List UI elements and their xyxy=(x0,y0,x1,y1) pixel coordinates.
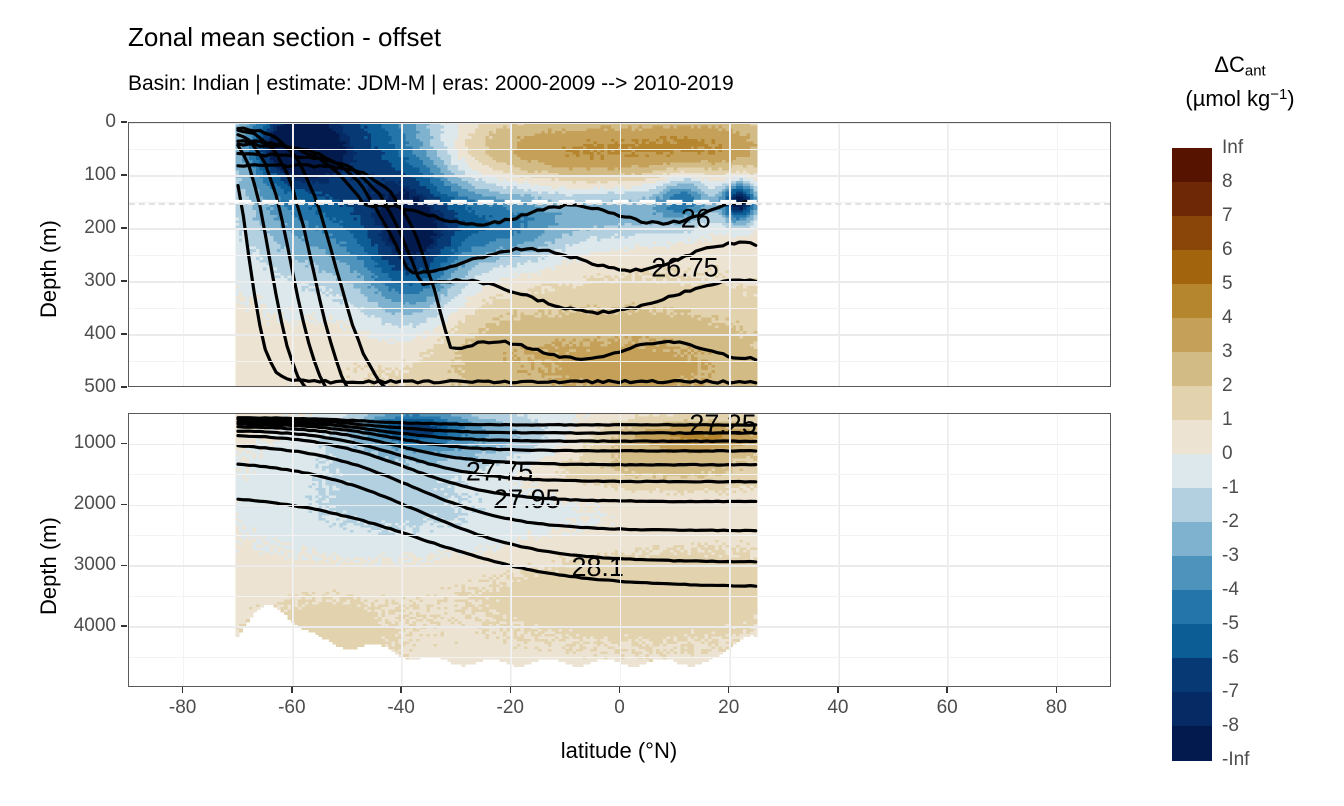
colorbar-band xyxy=(1172,488,1212,523)
colorbar-tick-label: 0 xyxy=(1222,443,1233,465)
colorbar-tick-label: -3 xyxy=(1222,545,1239,567)
colorbar-tick-label: 5 xyxy=(1222,273,1233,295)
y-axis-tick-upper xyxy=(121,333,127,334)
gridline-vertical-minor xyxy=(183,414,184,686)
x-axis-tick-label: -60 xyxy=(278,697,305,719)
colorbar[interactable] xyxy=(1172,148,1212,760)
colorbar-band xyxy=(1172,624,1212,659)
x-axis-tick xyxy=(182,687,183,693)
gridline-horizontal xyxy=(129,626,1110,628)
legend-title-line2: (µmol kg−1) xyxy=(1185,86,1294,112)
colorbar-band xyxy=(1172,556,1212,591)
y-axis-tick-lower xyxy=(121,565,127,566)
page-title: Zonal mean section - offset xyxy=(128,22,441,53)
colorbar-tick-label: 3 xyxy=(1222,341,1233,363)
contour-label: 27.75 xyxy=(466,456,533,486)
legend-delta: Δ xyxy=(1214,52,1229,77)
colorbar-band xyxy=(1172,420,1212,455)
legend-title-line1: ΔCant xyxy=(1214,52,1265,79)
colorbar-band xyxy=(1172,692,1212,727)
legend-subscript: ant xyxy=(1245,62,1266,79)
gridline-horizontal-minor xyxy=(129,308,1110,309)
legend-unit-open: (µmol kg xyxy=(1185,86,1270,111)
y-axis-tick-label-lower: 1000 xyxy=(74,432,116,454)
gridline-horizontal xyxy=(129,505,1110,507)
gridline-horizontal-minor xyxy=(129,149,1110,150)
colorbar-band xyxy=(1172,216,1212,251)
colorbar-tick-label: -4 xyxy=(1222,579,1239,601)
colorbar-tick-label: 8 xyxy=(1222,171,1233,193)
x-axis-tick xyxy=(946,687,947,693)
colorbar-tick-label: -6 xyxy=(1222,647,1239,669)
y-axis-tick-lower xyxy=(121,443,127,444)
x-axis-tick-label: 60 xyxy=(937,697,958,719)
x-axis-tick xyxy=(619,687,620,693)
x-axis-tick xyxy=(837,687,838,693)
colorbar-band xyxy=(1172,590,1212,625)
colorbar-tick-label: 4 xyxy=(1222,307,1233,329)
y-axis-tick-label-upper: 0 xyxy=(105,111,116,133)
x-axis-tick-label: 0 xyxy=(614,697,625,719)
colorbar-tick-label: -5 xyxy=(1222,613,1239,635)
y-axis-tick-label-upper: 200 xyxy=(84,217,116,239)
gridline-horizontal xyxy=(129,122,1110,124)
x-axis-tick-label: 20 xyxy=(718,697,739,719)
y-axis-tick-label-upper: 500 xyxy=(84,376,116,398)
y-axis-tick-label-upper: 100 xyxy=(84,164,116,186)
gridline-horizontal xyxy=(129,565,1110,567)
colorbar-band xyxy=(1172,284,1212,319)
colorbar-band xyxy=(1172,250,1212,285)
x-axis-tick-label: 80 xyxy=(1046,697,1067,719)
x-axis-tick-label: -80 xyxy=(169,697,196,719)
y-axis-tick-label-lower: 3000 xyxy=(74,554,116,576)
gridline-horizontal xyxy=(129,334,1110,336)
gridline-horizontal xyxy=(129,228,1110,230)
colorbar-band xyxy=(1172,318,1212,353)
gridline-horizontal xyxy=(129,444,1110,446)
gridline-horizontal xyxy=(129,281,1110,283)
gridline-horizontal-minor xyxy=(129,361,1110,362)
colorbar-band xyxy=(1172,726,1212,761)
colorbar-tick-label: -8 xyxy=(1222,715,1239,737)
colorbar-tick-label: -Inf xyxy=(1222,749,1249,771)
y-axis-tick-upper xyxy=(121,227,127,228)
gridline-vertical-minor xyxy=(729,414,730,686)
gridline-vertical-minor xyxy=(948,414,949,686)
gridline-vertical-minor xyxy=(292,414,293,686)
x-axis-tick-label: -40 xyxy=(387,697,414,719)
gridline-vertical-minor xyxy=(838,414,839,686)
y-axis-tick-label-upper: 400 xyxy=(84,323,116,345)
lower-section-panel: 27.2527.7527.9528.1 xyxy=(128,413,1111,687)
gridline-horizontal xyxy=(129,175,1110,177)
y-axis-tick-lower xyxy=(121,504,127,505)
gridline-vertical-minor xyxy=(511,414,512,686)
colorbar-tick-label: 2 xyxy=(1222,375,1233,397)
colorbar-tick-label: -7 xyxy=(1222,681,1239,703)
colorbar-tick-label: 6 xyxy=(1222,239,1233,261)
legend-unit-exponent: −1 xyxy=(1270,86,1287,103)
y-axis-tick-upper xyxy=(121,386,127,387)
upper-section-panel: 2626.75 xyxy=(128,122,1111,387)
contour-label: 27.25 xyxy=(689,414,756,439)
colorbar-band xyxy=(1172,522,1212,557)
gridline-horizontal-minor xyxy=(129,474,1110,475)
contour-label: 27.95 xyxy=(493,484,560,514)
colorbar-tick-label: -1 xyxy=(1222,477,1239,499)
gridline-vertical-minor xyxy=(1057,414,1058,686)
x-axis-tick-label: 40 xyxy=(827,697,848,719)
colorbar-tick-label: Inf xyxy=(1222,137,1243,159)
x-axis-tick-label: -20 xyxy=(497,697,524,719)
x-axis-tick xyxy=(510,687,511,693)
y-axis-title-lower: Depth (m) xyxy=(36,517,62,615)
colorbar-band xyxy=(1172,454,1212,489)
colorbar-band xyxy=(1172,148,1212,183)
x-axis-tick xyxy=(291,687,292,693)
x-axis-tick xyxy=(728,687,729,693)
page-subtitle: Basin: Indian | estimate: JDM-M | eras: … xyxy=(128,72,734,96)
colorbar-tick-label: 1 xyxy=(1222,409,1233,431)
y-axis-tick-label-upper: 300 xyxy=(84,270,116,292)
y-axis-tick-label-lower: 4000 xyxy=(74,615,116,637)
y-axis-tick-label-lower: 2000 xyxy=(74,493,116,515)
y-axis-tick-upper xyxy=(121,280,127,281)
gridline-horizontal-minor xyxy=(129,657,1110,658)
colorbar-tick-label: 7 xyxy=(1222,205,1233,227)
colorbar-band xyxy=(1172,182,1212,217)
legend-c: C xyxy=(1229,52,1245,77)
y-axis-tick-upper xyxy=(121,174,127,175)
gridline-horizontal-minor xyxy=(129,596,1110,597)
mixed-layer-depth-gridline xyxy=(129,203,1110,205)
gridline-vertical-minor xyxy=(620,414,621,686)
colorbar-tick-label: -2 xyxy=(1222,511,1239,533)
x-axis-tick xyxy=(400,687,401,693)
x-axis-tick xyxy=(1056,687,1057,693)
colorbar-band xyxy=(1172,658,1212,693)
y-axis-tick-upper xyxy=(121,121,127,122)
colorbar-band xyxy=(1172,352,1212,387)
gridline-vertical-minor xyxy=(402,414,403,686)
x-axis-title: latitude (°N) xyxy=(561,738,677,764)
gridline-horizontal-minor xyxy=(129,255,1110,256)
gridline-horizontal-minor xyxy=(129,535,1110,536)
y-axis-title-upper: Depth (m) xyxy=(36,220,62,318)
contour-label: 26.75 xyxy=(651,252,718,282)
colorbar-band xyxy=(1172,386,1212,421)
legend-unit-close: ) xyxy=(1287,86,1294,111)
y-axis-tick-lower xyxy=(121,625,127,626)
